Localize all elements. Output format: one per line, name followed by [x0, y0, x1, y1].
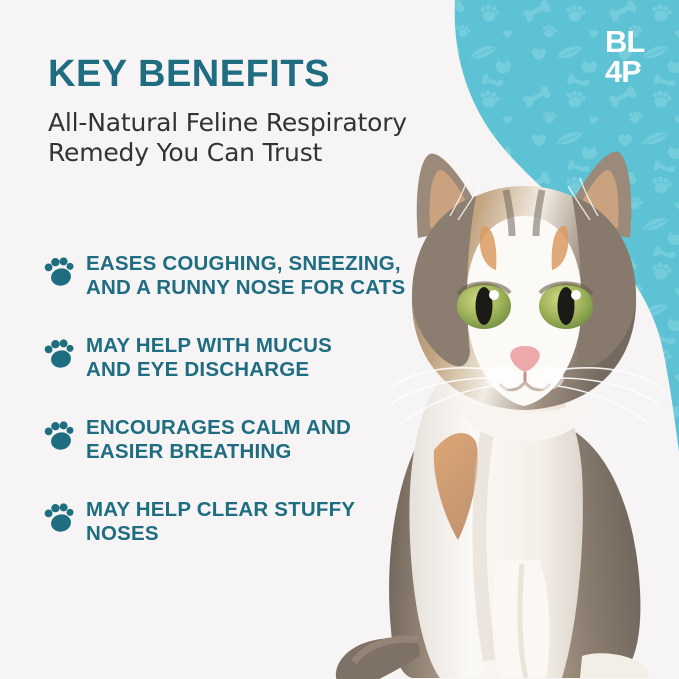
cat-eye-right: [539, 283, 593, 329]
cat-eye-left: [457, 283, 511, 329]
paw-icon: [44, 420, 74, 452]
page-title: KEY BENEFITS: [48, 54, 478, 94]
logo-text-bottom: 4P: [605, 54, 641, 88]
benefit-item-4: MAY HELP CLEAR STUFFY NOSES: [44, 498, 464, 546]
paw-icon: [44, 256, 74, 288]
benefit-item-2: MAY HELP WITH MUCUS AND EYE DISCHARGE: [44, 334, 464, 382]
benefit-label: ENCOURAGES CALM AND EASIER BREATHING: [86, 416, 351, 464]
header-block: KEY BENEFITS All-Natural Feline Respirat…: [48, 54, 478, 168]
benefit-label: MAY HELP WITH MUCUS AND EYE DISCHARGE: [86, 334, 332, 382]
benefit-item-3: ENCOURAGES CALM AND EASIER BREATHING: [44, 416, 464, 464]
benefit-item-1: EASES COUGHING, SNEEZING, AND A RUNNY NO…: [44, 252, 464, 300]
page-subtitle: All-Natural Feline Respiratory Remedy Yo…: [48, 108, 478, 168]
benefit-label: MAY HELP CLEAR STUFFY NOSES: [86, 498, 355, 546]
paw-icon: [44, 502, 74, 534]
product-benefits-poster: BL 4P: [0, 0, 679, 679]
paw-icon: [44, 338, 74, 370]
brand-logo-bl4p: BL 4P: [604, 22, 666, 88]
benefits-list: EASES COUGHING, SNEEZING, AND A RUNNY NO…: [44, 252, 464, 546]
benefit-label: EASES COUGHING, SNEEZING, AND A RUNNY NO…: [86, 252, 405, 300]
